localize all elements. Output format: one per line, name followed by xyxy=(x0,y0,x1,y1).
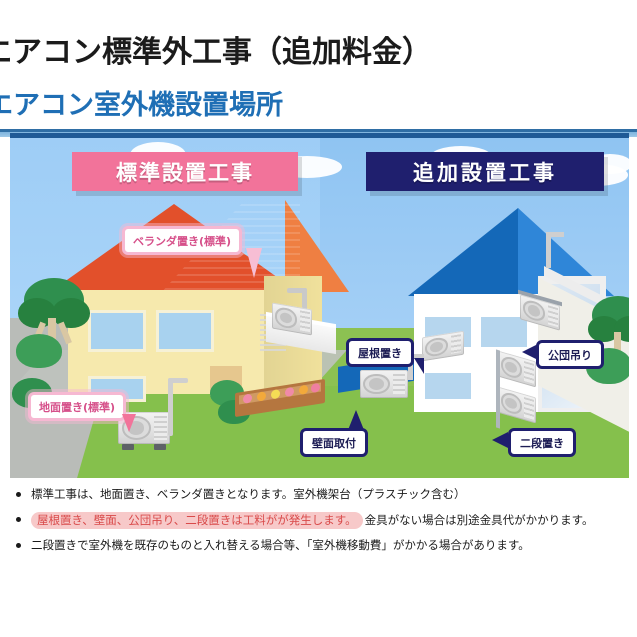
callout-two-tier: 二段置き xyxy=(508,428,576,457)
note-text: 二段置きで室外機を既存のものと入れ替える場合等、「室外機移動費」がかかる場合があ… xyxy=(31,538,530,554)
left-house-window xyxy=(88,310,146,352)
ac-grill xyxy=(154,416,167,440)
note-text: 標準工事は、地面置き、ベランダ置きとなります。室外機架台（プラスチック含む） xyxy=(31,487,465,503)
callout-roof-placement: 屋根置き xyxy=(346,338,414,367)
corridor-pipe xyxy=(546,232,551,268)
ac-body xyxy=(360,370,408,398)
callout-tail xyxy=(122,414,136,432)
callout-label: 二段置き xyxy=(520,435,564,451)
callout-balcony-placement: ベランダ置き(標準) xyxy=(122,226,242,255)
bullet-icon xyxy=(16,492,21,497)
section-title-wrap: エアコン室外機設置場所 xyxy=(0,92,637,120)
note-highlight: 屋根置き、壁面、公団吊り、二段置きは工料がが発生します。 xyxy=(31,512,363,530)
bullet-icon xyxy=(16,517,21,522)
callout-tail xyxy=(246,248,262,278)
ac-feet xyxy=(122,444,166,450)
stacked-frame xyxy=(496,349,500,428)
note-item: 標準工事は、地面置き、ベランダ置きとなります。室外機架台（プラスチック含む） xyxy=(12,487,627,503)
ac-grill xyxy=(524,397,534,419)
bullet-icon xyxy=(16,543,21,548)
banner-additional-install: 追加設置工事 xyxy=(366,152,604,191)
banner-standard-install: 標準設置工事 xyxy=(72,152,298,191)
section-title: エアコン室外機設置場所 xyxy=(0,92,637,120)
ac-fan-icon xyxy=(501,391,522,416)
callout-tail xyxy=(414,358,424,374)
ac-fan-icon xyxy=(425,336,449,357)
ac-fan-icon xyxy=(523,298,545,323)
callout-label: 地面置き(標準) xyxy=(39,399,115,415)
callout-label: 公団吊り xyxy=(548,347,592,363)
callout-label: 壁面取付 xyxy=(312,435,356,451)
notes-list: 標準工事は、地面置き、ベランダ置きとなります。室外機架台（プラスチック含む） 屋… xyxy=(12,487,627,563)
ground-pipe-elbow xyxy=(168,378,188,383)
callout-wall-mount: 壁面取付 xyxy=(300,428,368,457)
callout-label: 屋根置き xyxy=(358,345,402,361)
outdoor-unit-wall-mounted xyxy=(360,370,408,398)
callout-kodan-hanging: 公団吊り xyxy=(536,340,604,369)
bush xyxy=(16,334,62,368)
callout-tail xyxy=(522,344,538,360)
ac-fan-icon xyxy=(275,306,297,329)
page-root: エアコン標準外工事（追加料金） エアコン室外機設置場所 xyxy=(0,0,637,637)
corridor-pipe-elbow xyxy=(546,232,564,237)
note-item: 二段置きで室外機を既存のものと入れ替える場合等、「室外機移動費」がかかる場合があ… xyxy=(12,538,627,554)
ground-pipe xyxy=(168,378,173,436)
callout-label: ベランダ置き(標準) xyxy=(133,233,231,249)
ac-fan-icon xyxy=(363,374,390,395)
ac-grill xyxy=(524,361,534,383)
ac-fan-icon xyxy=(501,355,522,380)
page-title: エアコン標準外工事（追加料金） xyxy=(0,38,637,68)
note-text: 金具がない場合は別途金具代がかかります。 xyxy=(365,513,594,527)
note-item: 屋根置き、壁面、公団吊り、二段置きは工料がが発生します。金具がない場合は別途金具… xyxy=(12,512,627,530)
ac-grill xyxy=(451,334,462,353)
callout-tail xyxy=(492,432,508,448)
left-house-window xyxy=(156,310,214,352)
ac-grill xyxy=(300,311,310,332)
ac-grill xyxy=(393,374,405,395)
installation-diagram: 標準設置工事 追加設置工事 ベランダ置き(標準) 地面置き(標準) 屋根置き 公… xyxy=(10,133,629,478)
ac-grill xyxy=(548,305,558,326)
callout-tail xyxy=(348,410,364,430)
note-text-wrap: 屋根置き、壁面、公団吊り、二段置きは工料がが発生します。金具がない場合は別途金具… xyxy=(31,512,593,530)
callout-ground-placement: 地面置き(標準) xyxy=(28,392,126,421)
right-house-window xyxy=(422,370,474,402)
